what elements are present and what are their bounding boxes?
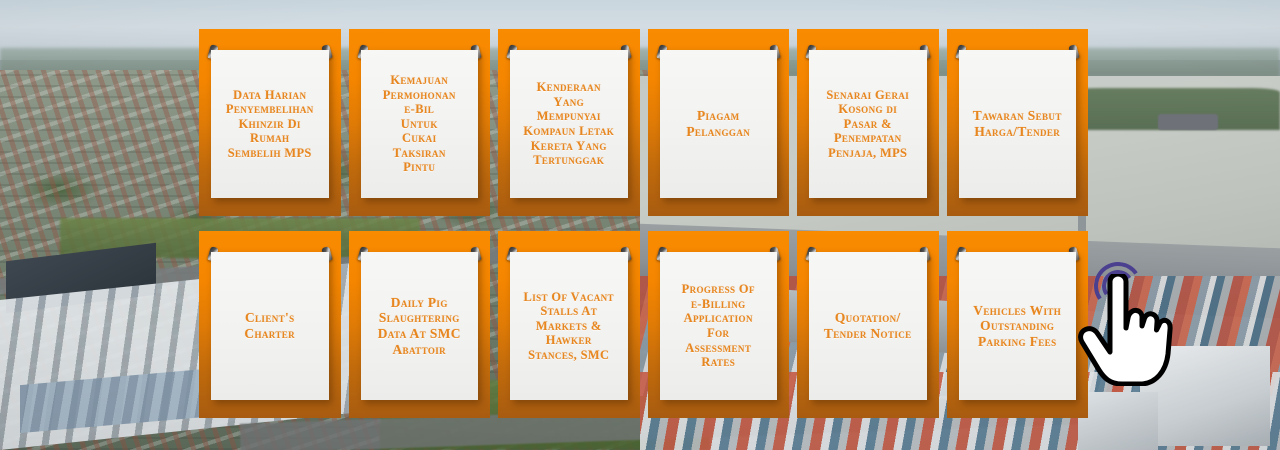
tile-piagam-pelanggan[interactable]: Piagam Pelanggan (648, 29, 790, 216)
tile-sheet: Data Harian Penyembelihan Khinzir Di Rum… (211, 50, 329, 198)
tile-label: Daily Pig Slaughtering Data At SMC Abatt… (378, 295, 461, 357)
tile-label: Senarai Gerai Kosong di Pasar & Penempat… (826, 88, 909, 161)
tile-sheet: Piagam Pelanggan (660, 50, 778, 198)
tile-label: Data Harian Penyembelihan Khinzir Di Rum… (226, 88, 314, 161)
tile-sheet: Vehicles With Outstanding Parking Fees (959, 252, 1077, 400)
tile-sheet: Quotation/ Tender Notice (809, 252, 927, 400)
tile-row-1: Data Harian Penyembelihan Khinzir Di Rum… (199, 29, 1081, 216)
tile-label: Kenderaan Yang Mempunyai Kompaun Letak K… (523, 80, 614, 168)
tile-sheet: Tawaran Sebut Harga/Tender (959, 50, 1077, 198)
tile-label: Progress Of e-Billing Application For As… (682, 282, 755, 370)
tile-sheet: Senarai Gerai Kosong di Pasar & Penempat… (809, 50, 927, 198)
tile-progress-of-e-billing[interactable]: Progress Of e-Billing Application For As… (648, 231, 790, 418)
tile-tawaran-sebut-harga-tender[interactable]: Tawaran Sebut Harga/Tender (947, 29, 1089, 216)
tile-sheet: List Of Vacant Stalls At Markets & Hawke… (510, 252, 628, 400)
tile-label: Kemajuan Permohonan e-Bil Untuk Cukai Ta… (383, 73, 456, 175)
tile-kemajuan-permohonan-e-bil[interactable]: Kemajuan Permohonan e-Bil Untuk Cukai Ta… (349, 29, 491, 216)
tile-kenderaan-kompaun-letak-kereta[interactable]: Kenderaan Yang Mempunyai Kompaun Letak K… (498, 29, 640, 216)
tile-vehicles-outstanding-parking-fees[interactable]: Vehicles With Outstanding Parking Fees (947, 231, 1089, 418)
tile-label: Vehicles With Outstanding Parking Fees (973, 303, 1061, 350)
tile-sheet: Progress Of e-Billing Application For As… (660, 252, 778, 400)
tile-clients-charter[interactable]: Client's Charter (199, 231, 341, 418)
tile-label: Tawaran Sebut Harga/Tender (973, 108, 1062, 139)
tile-label: Client's Charter (244, 310, 295, 341)
tile-sheet: Client's Charter (211, 252, 329, 400)
tile-label: Piagam Pelanggan (686, 108, 750, 139)
tile-data-harian-penyembelihan[interactable]: Data Harian Penyembelihan Khinzir Di Rum… (199, 29, 341, 216)
tile-label: List Of Vacant Stalls At Markets & Hawke… (524, 290, 614, 363)
tile-sheet: Daily Pig Slaughtering Data At SMC Abatt… (361, 252, 479, 400)
page-root: Data Harian Penyembelihan Khinzir Di Rum… (0, 0, 1280, 450)
tile-list-of-vacant-stalls[interactable]: List Of Vacant Stalls At Markets & Hawke… (498, 231, 640, 418)
tile-grid: Data Harian Penyembelihan Khinzir Di Rum… (199, 29, 1081, 419)
tile-row-2: Client's Charter Daily Pig Slaughtering … (199, 231, 1081, 418)
tile-quotation-tender-notice[interactable]: Quotation/ Tender Notice (797, 231, 939, 418)
tile-label: Quotation/ Tender Notice (824, 310, 912, 341)
tile-sheet: Kenderaan Yang Mempunyai Kompaun Letak K… (510, 50, 628, 198)
tile-daily-pig-slaughtering-data[interactable]: Daily Pig Slaughtering Data At SMC Abatt… (349, 231, 491, 418)
tile-senarai-gerai-kosong[interactable]: Senarai Gerai Kosong di Pasar & Penempat… (797, 29, 939, 216)
tile-sheet: Kemajuan Permohonan e-Bil Untuk Cukai Ta… (361, 50, 479, 198)
